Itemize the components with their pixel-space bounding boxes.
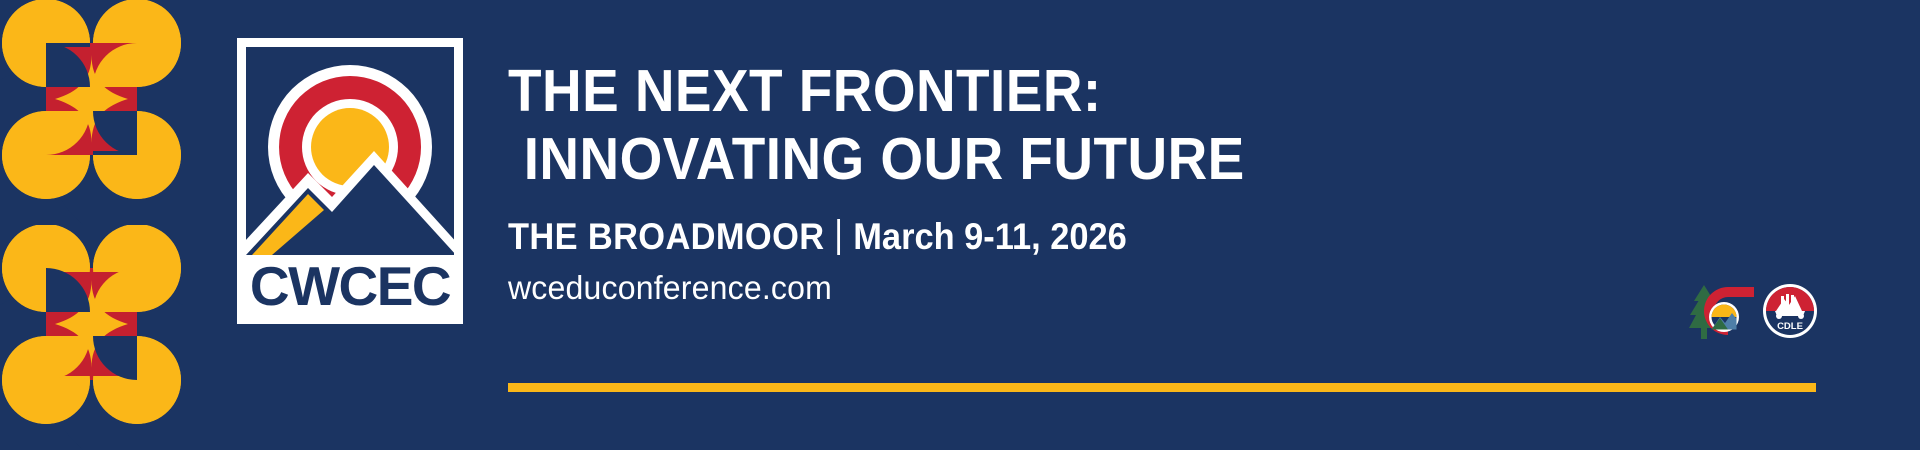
website-url[interactable]: wceduconference.com bbox=[508, 269, 1788, 307]
event-details-row: THE BROADMOOR March 9-11, 2026 bbox=[508, 216, 1736, 258]
gold-divider-rule bbox=[508, 383, 1816, 392]
conference-banner: CWCEC THE NEXT FRONTIER: INNOVATING OUR … bbox=[0, 0, 1920, 450]
cdle-logo-icon: CDLE bbox=[1762, 283, 1818, 339]
partner-logos: CDLE bbox=[1684, 280, 1818, 342]
banner-text-block: THE NEXT FRONTIER: INNOVATING OUR FUTURE… bbox=[508, 58, 1828, 307]
headline-line-1: THE NEXT FRONTIER: bbox=[508, 58, 1736, 124]
event-dates: March 9-11, 2026 bbox=[853, 216, 1127, 258]
headline-line-2: INNOVATING OUR FUTURE bbox=[508, 126, 1736, 192]
cwcec-wordmark: CWCEC bbox=[246, 255, 454, 317]
colorado-c-mountain-mark-icon bbox=[246, 47, 454, 255]
decorative-pattern-panel bbox=[0, 0, 183, 450]
cdle-label: CDLE bbox=[1777, 321, 1803, 332]
pattern-tile bbox=[0, 0, 183, 225]
colorado-state-logo-icon bbox=[1684, 281, 1758, 341]
cwcec-logo: CWCEC bbox=[237, 38, 463, 324]
venue-name: THE BROADMOOR bbox=[508, 216, 824, 258]
pattern-tile bbox=[0, 225, 183, 450]
subtitle-divider bbox=[837, 219, 840, 255]
